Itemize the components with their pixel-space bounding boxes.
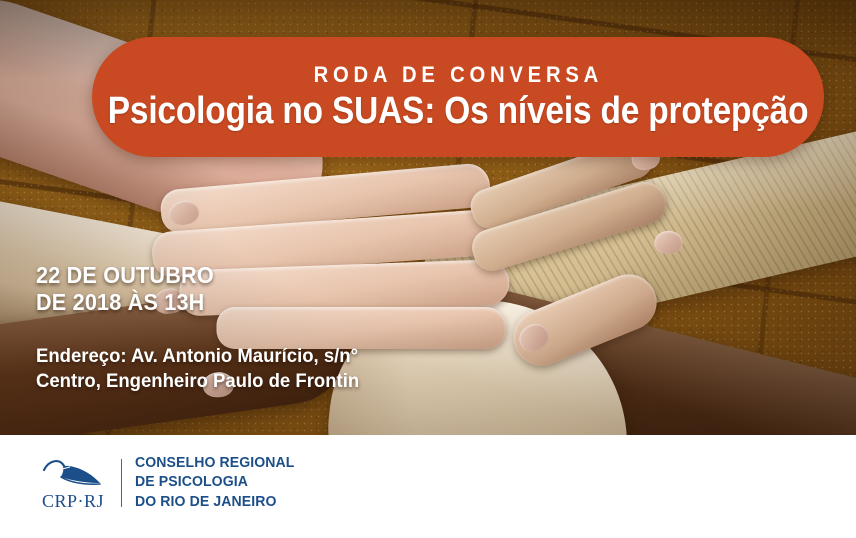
logo-mark: CRP·RJ [36,457,110,510]
title-banner: RODA DE CONVERSA Psicologia no SUAS: Os … [92,37,824,157]
crp-rj-logo[interactable]: CRP·RJ CONSELHO REGIONAL DE PSICOLOGIA D… [36,454,299,512]
event-date: 22 DE OUTUBRO DE 2018 ÀS 13H [36,262,214,317]
event-address-line-1: Endereço: Av. Antonio Maurício, s/n° [36,344,359,369]
event-date-line-1: 22 DE OUTUBRO [36,262,214,289]
logo-name-line-2: DE PSICOLOGIA [135,473,295,492]
logo-name-line-1: CONSELHO REGIONAL [135,454,295,473]
logo-name-line-3: DO RIO DE JANEIRO [135,493,295,512]
logo-wordmark: CONSELHO REGIONAL DE PSICOLOGIA DO RIO D… [135,454,295,512]
event-address: Endereço: Av. Antonio Maurício, s/n° Cen… [36,344,359,394]
logo-divider [121,459,122,507]
crp-bird-wing-icon [40,457,106,491]
logo-acronym: CRP·RJ [42,492,104,510]
banner-headline: Psicologia no SUAS: Os níveis de protepç… [108,92,809,130]
event-address-line-2: Centro, Engenheiro Paulo de Frontin [36,369,359,394]
poster-canvas: RODA DE CONVERSA Psicologia no SUAS: Os … [0,0,856,538]
banner-kicker: RODA DE CONVERSA [313,64,602,86]
footer: CRP·RJ CONSELHO REGIONAL DE PSICOLOGIA D… [0,435,856,538]
event-date-line-2: DE 2018 ÀS 13H [36,289,214,316]
